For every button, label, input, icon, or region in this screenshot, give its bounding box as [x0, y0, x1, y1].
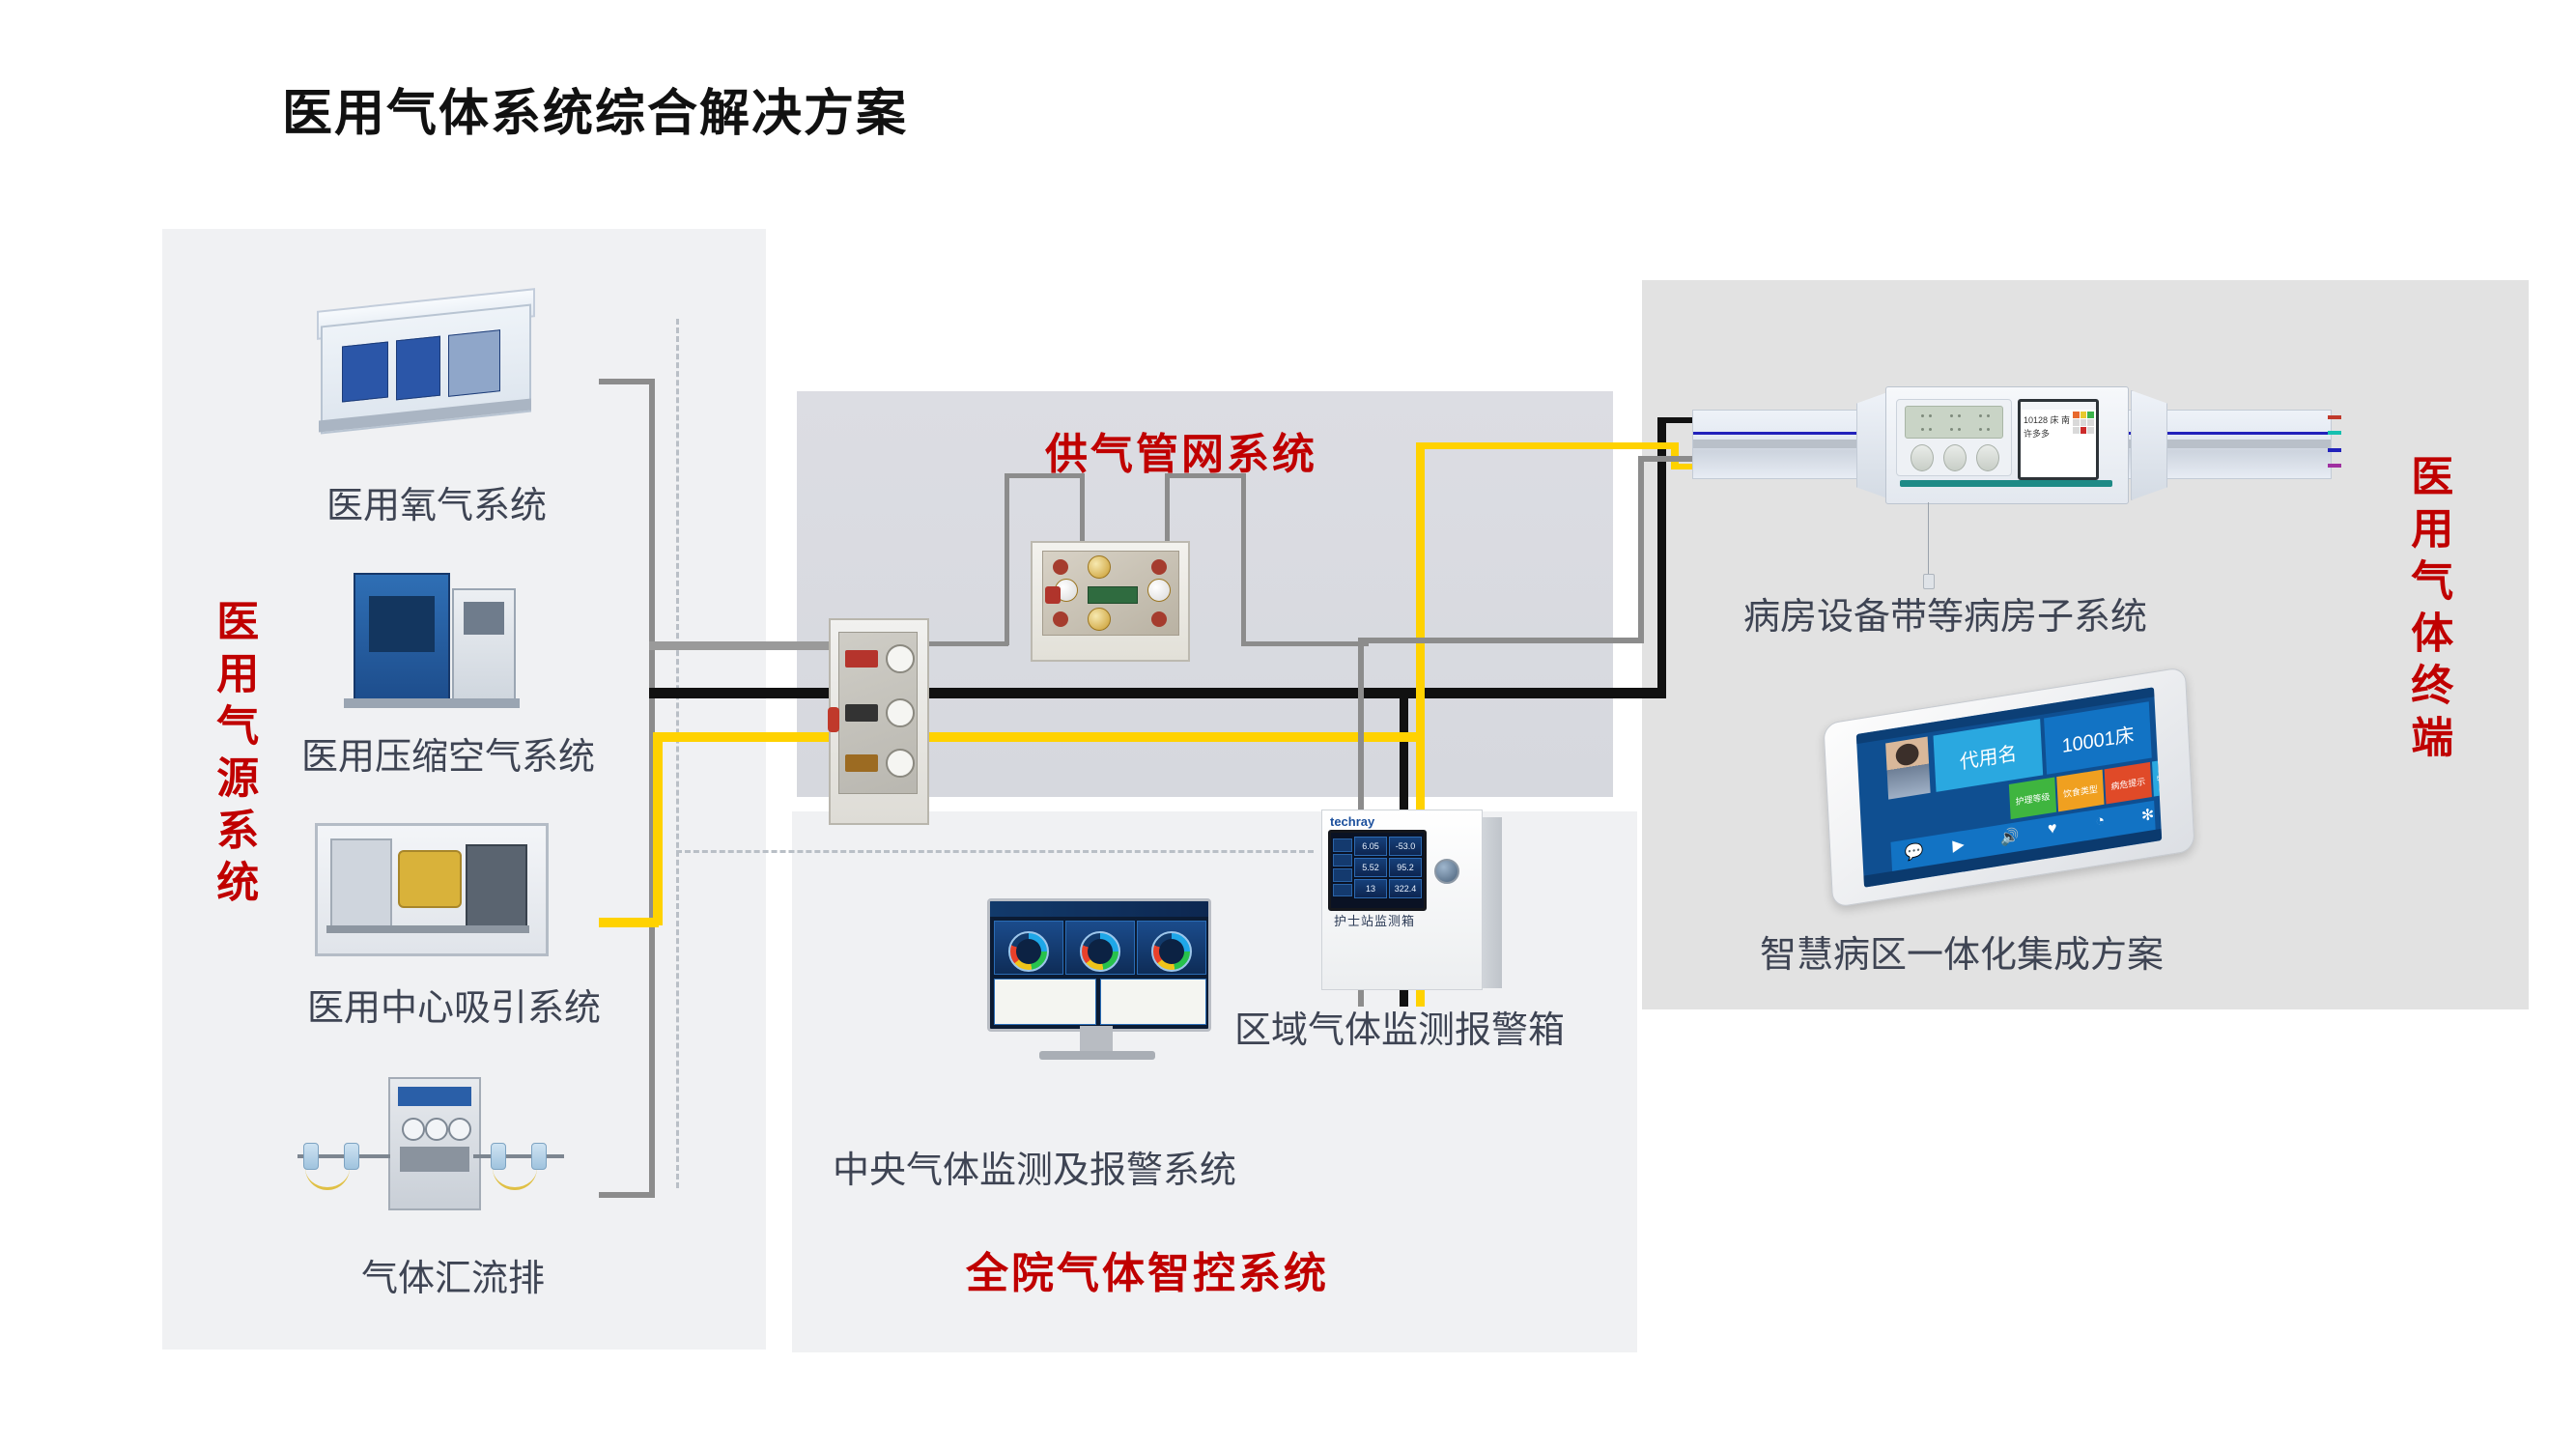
pipe-ctrl-left-drop — [1080, 473, 1085, 543]
pipe-grey-branch-top — [1358, 638, 1644, 643]
equipment-gas-manifold — [290, 1067, 570, 1222]
pipe-grey-bottom-stub — [599, 1192, 655, 1198]
tablet-tile-diet[interactable]: 饮食类型 — [2056, 770, 2104, 812]
pipe-yellow-from-source — [653, 732, 835, 742]
pipe-grey-branch-to-terminal — [1638, 456, 1696, 462]
headphone-icon[interactable]: ◔ — [2095, 812, 2106, 832]
tablet-tile-critical[interactable]: 病危提示 — [2105, 762, 2152, 805]
pipe-yellow-left-stub — [599, 918, 659, 927]
pipe-yellow-top-to-terminal — [1416, 442, 1677, 449]
pipe-ctrl-right-riser — [1241, 473, 1246, 645]
tablet-tile-care-level[interactable]: 护理等级 — [2009, 777, 2056, 819]
alarm-reading: 5.52 — [1354, 858, 1387, 877]
alarm-reading: 13 — [1354, 879, 1387, 898]
call-cord — [1928, 502, 1929, 576]
bedhead-patient-name: 许多多 — [2024, 427, 2050, 440]
page-title: 医用气体系统综合解决方案 — [282, 72, 908, 145]
equipment-central-monitor — [976, 889, 1217, 1072]
bedhead-bed-number: 10128 床 南 — [2024, 413, 2070, 426]
equipment-bed-head-unit: 10128 床 南 许多多 — [1692, 384, 2330, 510]
equipment-oxygen-plant — [307, 288, 549, 447]
techray-logo: techray — [1330, 814, 1374, 829]
equipment-manifold-control-box — [1031, 541, 1190, 662]
equipment-air-compressor — [309, 555, 551, 715]
label-gas-source-vertical: 医用气源系统 — [211, 599, 255, 912]
equipment-vacuum-pump — [307, 811, 551, 966]
alarm-reading: 95.2 — [1389, 858, 1422, 877]
pipe-yellow-down-left — [653, 732, 663, 925]
volume-icon[interactable]: 🔊 — [1999, 826, 2020, 848]
pipe-ctrl-left-riser — [1005, 473, 1009, 645]
heart-icon[interactable]: ♥ — [2048, 820, 2057, 839]
caption-central-monitoring-system: 中央气体监测及报警系统 — [833, 1140, 1236, 1193]
alarm-box-label: 护士站监测箱 — [1334, 911, 1415, 929]
pipe-black-main-left — [649, 688, 835, 698]
caption-smart-ward-solution: 智慧病区一体化集成方案 — [1760, 924, 2164, 978]
caption-compressed-air-system: 医用压缩空气系统 — [301, 726, 595, 780]
caption-area-alarm-box: 区域气体监测报警箱 — [1234, 1000, 1565, 1053]
pipe-ctrl-left-feed — [929, 641, 1008, 646]
pipe-yellow-main-right — [922, 732, 1425, 742]
caption-gas-manifold: 气体汇流排 — [361, 1248, 545, 1301]
pipe-dashed-vertical — [676, 319, 679, 1188]
caption-vacuum-system: 医用中心吸引系统 — [307, 978, 601, 1031]
pipe-grey-branch-up — [1638, 456, 1644, 643]
alarm-reading: 322.4 — [1389, 879, 1422, 898]
equipment-area-alarm-box: techray 6.05 -53.0 5.52 95.2 13 322.4 护士… — [1321, 810, 1505, 988]
pipe-dashed-horizontal-to-smart — [676, 850, 1314, 853]
lock-icon — [1434, 859, 1459, 884]
alarm-reading: 6.05 — [1354, 837, 1387, 856]
caption-oxygen-system: 医用氧气系统 — [326, 475, 547, 528]
pipe-black-main-right — [922, 688, 1666, 698]
pipe-grey-top-stub — [599, 379, 655, 384]
alarm-reading: -53.0 — [1389, 837, 1422, 856]
pipe-grey-to-valvebox — [649, 641, 833, 650]
bedhead-display: 10128 床 南 许多多 — [2018, 399, 2099, 480]
caption-bedhead-subsystem: 病房设备带等病房子系统 — [1743, 586, 2147, 639]
gear-icon[interactable]: ✻ — [2140, 805, 2154, 826]
label-pipeline-title: 供气管网系统 — [1045, 419, 1317, 481]
label-smart-control-title: 全院气体智控系统 — [966, 1238, 1329, 1300]
patient-avatar — [1885, 737, 1931, 800]
play-icon[interactable]: ▶ — [1952, 835, 1965, 856]
pipe-ctrl-right-feed — [1241, 641, 1369, 646]
equipment-zone-valve-box — [829, 618, 925, 821]
chat-icon[interactable]: 💬 — [1905, 841, 1925, 864]
pipe-ctrl-right-drop — [1165, 473, 1170, 543]
label-terminal-vertical: 医用气体终端 — [2405, 454, 2449, 767]
